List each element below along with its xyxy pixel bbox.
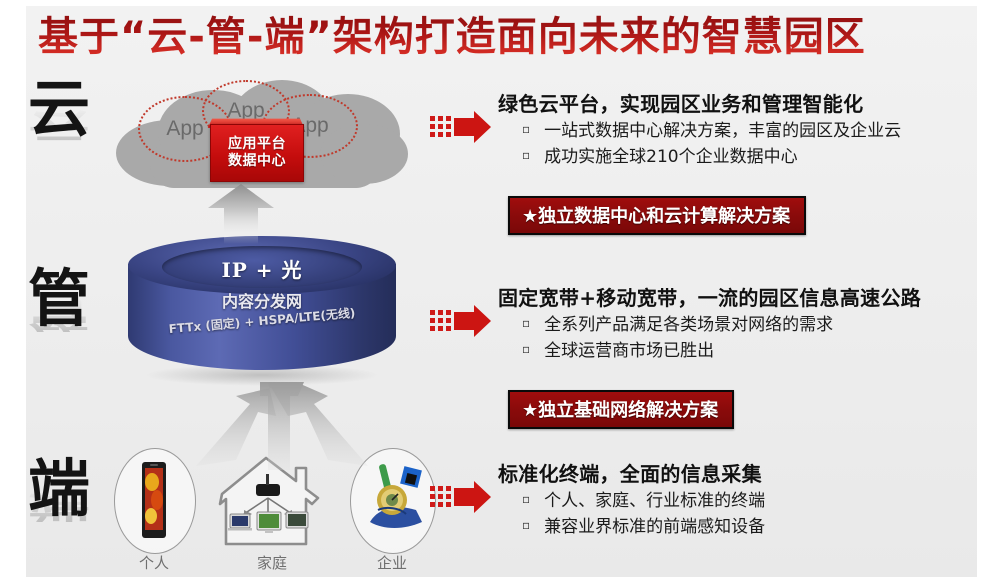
- bullet-text: 全球运营商市场已胜出: [544, 338, 714, 364]
- cloud-graphic: App App App 应用平台 数据中心: [110, 78, 430, 198]
- page-title: 基于“云-管-端”架构打造面向未来的智慧园区: [38, 11, 918, 63]
- bullet-marker: ▫: [522, 312, 530, 335]
- fanout-arrows-icon: [118, 382, 438, 474]
- bullet-item: ▫ 全球运营商市场已胜出: [522, 338, 992, 364]
- bullet-text: 一站式数据中心解决方案，丰富的园区及企业云: [544, 118, 901, 144]
- terminal-person-label: 个人: [108, 552, 200, 573]
- bullet-text: 成功实施全球210个企业数据中心: [544, 144, 797, 170]
- block-bullets-terminal: ▫ 个人、家庭、行业标准的终端 ▫ 兼容业界标准的前端感知设备: [522, 488, 992, 541]
- bullet-item: ▫ 兼容业界标准的前端感知设备: [522, 514, 992, 540]
- page-margin-top: [0, 0, 995, 6]
- up-arrow-icon: [206, 182, 276, 244]
- bullet-marker: ▫: [522, 118, 530, 141]
- bullet-item: ▫ 全系列产品满足各类场景对网络的需求: [522, 312, 992, 338]
- highlight-tag-pipe: ★独立基础网络解决方案: [508, 390, 734, 429]
- bullet-marker: ▫: [522, 144, 530, 167]
- cylinder-label-ip-optical: IP + 光: [128, 254, 396, 283]
- bullet-item: ▫ 成功实施全球210个企业数据中心: [522, 144, 992, 170]
- bullet-text: 全系列产品满足各类场景对网络的需求: [544, 312, 833, 338]
- bullet-marker: ▫: [522, 488, 530, 511]
- platform-label: 应用平台: [228, 136, 286, 154]
- slide-canvas: 基于“云-管-端”架构打造面向未来的智慧园区 云 云 管 管 端 端 App A…: [0, 0, 995, 577]
- layer-glyph-pipe: 管 管: [28, 268, 128, 394]
- red-arrow-icon: [430, 480, 492, 514]
- highlight-tag-cloud: ★独立数据中心和云计算解决方案: [508, 196, 806, 235]
- bullet-item: ▫ 一站式数据中心解决方案，丰富的园区及企业云: [522, 118, 992, 144]
- block-bullets-pipe: ▫ 全系列产品满足各类场景对网络的需求 ▫ 全球运营商市场已胜出: [522, 312, 992, 365]
- red-arrow-icon: [430, 304, 492, 338]
- bullet-item: ▫ 个人、家庭、行业标准的终端: [522, 488, 992, 514]
- layer-glyph-pipe-reflection: 管: [28, 298, 128, 332]
- red-arrow-icon: [430, 110, 492, 144]
- terminal-home-label: 家庭: [208, 552, 336, 573]
- block-heading-pipe: 固定宽带+移动宽带，一流的园区信息高速公路: [498, 282, 921, 311]
- block-heading-cloud: 绿色云平台，实现园区业务和管理智能化: [498, 88, 863, 117]
- bullet-marker: ▫: [522, 338, 530, 361]
- page-margin-left: [0, 0, 26, 577]
- bullet-text: 兼容业界标准的前端感知设备: [544, 514, 765, 540]
- block-bullets-cloud: ▫ 一站式数据中心解决方案，丰富的园区及企业云 ▫ 成功实施全球210个企业数据…: [522, 118, 992, 171]
- bullet-text: 个人、家庭、行业标准的终端: [544, 488, 765, 514]
- block-heading-terminal: 标准化终端，全面的信息采集: [498, 458, 762, 487]
- bullet-marker: ▫: [522, 514, 530, 537]
- terminal-enterprise-label: 企业: [344, 552, 440, 573]
- network-cylinder-graphic: IP + 光 内容分发网 FTTx (固定) + HSPA/LTE(无线): [118, 236, 418, 396]
- datacenter-label: 数据中心: [228, 153, 286, 171]
- datacenter-box: 应用平台 数据中心: [210, 124, 304, 182]
- page-margin-right: [977, 0, 995, 577]
